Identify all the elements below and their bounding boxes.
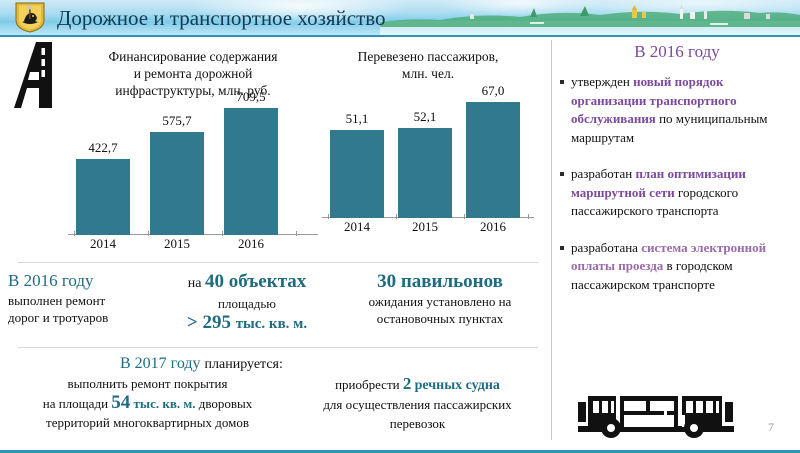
bar-2014 [330,130,384,218]
chart-financing: Финансирование содержания и ремонта доро… [68,48,318,253]
chart-financing-title: Финансирование содержания и ремонта доро… [68,48,318,99]
x-tick-label: 2016 [238,236,264,252]
middle-col3-line2: ожидания установлено на [340,293,540,310]
bar-2014 [76,159,130,235]
middle-col2-area-unit: тыс. кв. м. [236,316,307,332]
middle-col2-line2: площадью [152,295,342,312]
x-tick-label: 2015 [164,236,190,252]
bottom-left-suffix: дворовых [199,396,253,411]
bullet-square-icon [560,80,564,84]
bar-column: 422,7 [76,159,130,235]
bullet-item: разработан план оптимизации маршрутной с… [560,165,794,221]
right-panel-heading: В 2016 году [560,40,794,64]
x-tick-label: 2014 [90,236,116,252]
x-tick-label: 2015 [412,219,438,235]
coat-of-arms-emblem [12,2,48,33]
chart-passengers-plot: 51,1 52,1 67,0 2014 2015 2016 [322,104,534,232]
bottom-left-number: 54 [111,392,130,413]
horizontal-divider-bottom [18,347,538,348]
bullet-text-plain: утвержден [571,74,633,89]
horizontal-divider-top [18,262,538,263]
middle-col-pavilions: 30 павильонов ожидания установлено на ос… [340,270,540,327]
bar-2015 [150,132,204,235]
bar-column: 575,7 [150,132,204,235]
bus-icon [578,392,738,438]
page-number: 7 [768,420,774,435]
middle-col-repairs: В 2016 году выполнен ремонт дорог и трот… [8,270,148,326]
bar-column: 709,5 [224,108,278,235]
bottom-col-vessels: приобрести 2 речных судна для осуществле… [295,374,540,433]
bar-column: 67,0 [466,102,520,218]
slide-header: Дорожное и транспортное хозяйство [0,0,800,37]
bottom-right-line3: перевозок [295,414,540,433]
right-panel: В 2016 году утвержден новый порядок орга… [560,40,794,294]
bottom-right-number: 2 [403,374,412,393]
bar-value-label: 67,0 [482,83,505,99]
middle-col3-number: 30 павильонов [340,270,540,293]
middle-col2-gt: > [187,312,198,333]
middle-col2-prefix: на [188,276,202,291]
x-tick-label: 2016 [480,219,506,235]
bullet-text-plain: разработана [571,240,641,255]
page-title: Дорожное и транспортное хозяйство [57,3,386,33]
bottom-right-line1: приобрести 2 речных судна [295,374,540,395]
bullet-item: разработана система электронной оплаты п… [560,239,794,295]
bottom-right-line2: для осуществления пассажирских [295,395,540,414]
bar-2015 [398,128,452,218]
bar-value-label: 709,5 [236,89,265,105]
bullet-square-icon [560,246,564,250]
chart-passengers: Перевезено пассажиров, млн. чел. 51,1 52… [322,48,534,253]
middle-col-objects: на 40 объектах площадью > 295 тыс. кв. м… [152,270,342,335]
chart-passengers-title: Перевезено пассажиров, млн. чел. [322,48,534,82]
bar-column: 51,1 [330,130,384,218]
middle-col3-line3: остановочных пунктах [340,310,540,327]
bottom-right-unit: речных судна [415,378,500,393]
bottom-left-line3: территорий многоквартирных домов [10,413,285,432]
bottom-left-unit: тыс. кв. м. [134,396,196,411]
middle-col2-line3: > 295 тыс. кв. м. [152,312,342,335]
bar-2016 [224,108,278,235]
slide-root: Дорожное и транспортное хозяйство Финанс… [0,0,800,453]
bottom-heading-year: В 2017 году [120,355,201,372]
chart-x-axis: 2014 2015 2016 [68,235,318,249]
bar-column: 52,1 [398,128,452,218]
bar-value-label: 422,7 [88,140,117,156]
x-tick-label: 2014 [344,219,370,235]
bottom-right-prefix: приобрести [335,377,400,392]
bar-2016 [466,102,520,218]
middle-col2-area-number: 295 [202,312,231,333]
vertical-divider [551,40,552,440]
bottom-heading: В 2017 году планируется: [120,354,420,375]
bottom-left-line2: на площади 54 тыс. кв. м. дворовых [10,393,285,413]
bar-value-label: 575,7 [162,113,191,129]
middle-col2-line1: на 40 объектах [152,270,342,295]
bottom-col-roads: выполнить ремонт покрытия на площади 54 … [10,374,285,432]
cityscape-silhouette-icon [380,3,800,27]
road-letter-a-icon [14,42,70,108]
bullet-item: утвержден новый порядок организации тран… [560,73,794,147]
bottom-heading-rest: планируется: [205,357,283,372]
bullet-text-plain: разработан [571,166,635,181]
middle-col1-heading: В 2016 году [8,270,148,292]
bottom-left-line1: выполнить ремонт покрытия [10,374,285,393]
middle-col2-number: 40 объектах [205,271,306,292]
bottom-left-prefix: на площади [43,396,108,411]
bar-value-label: 51,1 [346,111,369,127]
chart-financing-plot: 422,7 575,7 709,5 2014 2015 2016 [68,101,318,249]
bullet-square-icon [560,172,564,176]
chart-x-axis: 2014 2015 2016 [322,218,534,232]
bar-value-label: 52,1 [414,109,437,125]
middle-col1-line1: выполнен ремонт [8,292,148,309]
middle-col1-line2: дорог и тротуаров [8,309,148,326]
